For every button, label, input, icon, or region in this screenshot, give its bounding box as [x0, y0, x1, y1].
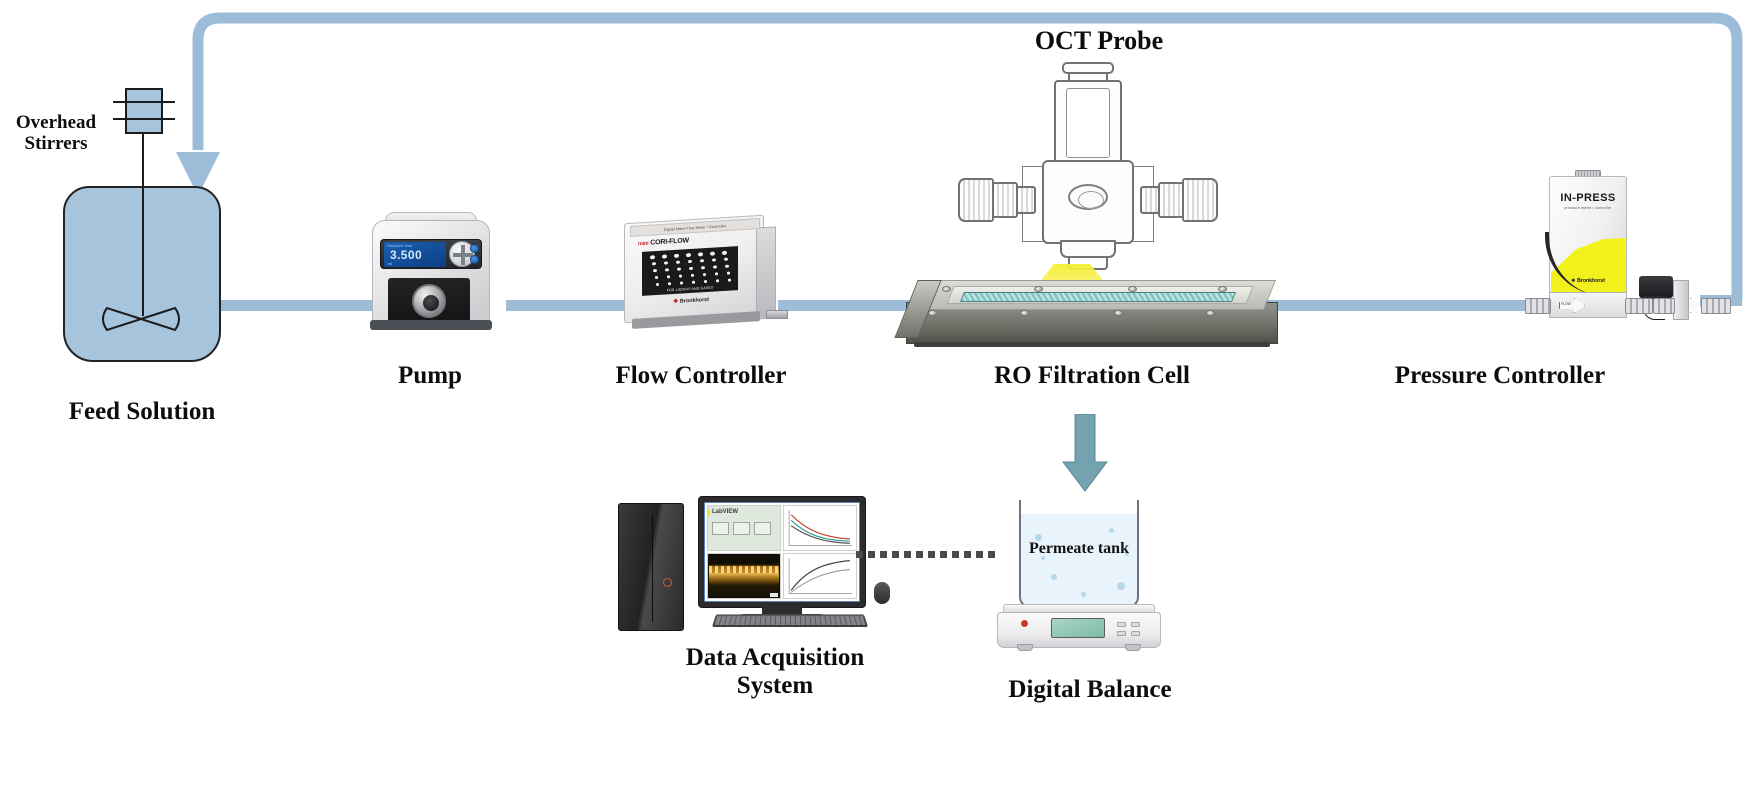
- flow-controller-graphic-dot: [656, 283, 659, 286]
- pressure-controller-manufacturer-name: Bronkhorst: [1577, 278, 1605, 284]
- bubble: [1109, 528, 1114, 533]
- labview-panel[interactable]: LabVIEW: [707, 505, 781, 551]
- flow-controller-graphic-dot: [676, 261, 681, 265]
- pressure-controller-model-label: IN-PRESS: [1553, 192, 1623, 204]
- flow-controller-graphic-dot: [710, 251, 715, 255]
- flow-controller-graphic-dot: [712, 258, 717, 262]
- bronkhorst-diamond-icon: ❖: [673, 299, 678, 305]
- flow-controller-graphic-dot: [703, 273, 707, 276]
- pump-button-bottom[interactable]: [470, 255, 479, 264]
- ro-bolt: [1206, 310, 1215, 316]
- label-oct-probe: OCT Probe: [965, 26, 1233, 55]
- flow-controller-graphic-dot: [692, 281, 695, 284]
- balance-foot: [1017, 644, 1033, 651]
- flow-controller-graphic-dot: [677, 268, 681, 271]
- pump-display-unit: ml: [388, 261, 392, 266]
- labview-tile[interactable]: [754, 522, 771, 535]
- flow-controller-graphic: FOR LIQUIDS AND GASES: [642, 246, 738, 296]
- flow-controller-graphic-dot: [700, 259, 705, 263]
- data-acquisition-system: LabVIEW: [612, 496, 912, 640]
- flow-controller-graphic-dot: [680, 281, 683, 284]
- pump-display: Setpoint flow 3.500 ml: [384, 242, 446, 267]
- oct-knob-right-outer[interactable]: [1182, 178, 1218, 222]
- flow-controller-graphic-dot: [653, 269, 657, 272]
- oct-probe-device: [950, 62, 1226, 292]
- flow-controller-graphic-dot: [704, 280, 707, 283]
- oct-knob-right-mid[interactable]: [1158, 182, 1184, 218]
- flow-arrow-icon-left: FLOW: [1559, 298, 1585, 313]
- flow-controller-graphic-dot: [674, 254, 679, 258]
- diagram-canvas: Overhead Stirrers Feed Solution Setpoint…: [0, 0, 1750, 797]
- ro-filtration-cell: [906, 272, 1278, 348]
- ro-bolt: [1218, 286, 1227, 292]
- label-digital-balance: Digital Balance: [970, 676, 1210, 704]
- peristaltic-pump: Setpoint flow 3.500 ml: [369, 206, 493, 330]
- keyboard[interactable]: [712, 614, 868, 627]
- ro-bolt: [928, 310, 937, 316]
- label-overhead-stirrers: Overhead Stirrers: [0, 112, 112, 155]
- flow-controller-graphic-dot: [679, 274, 683, 277]
- ro-bolt: [1020, 310, 1029, 316]
- pipe-pump-to-flowctl: [506, 300, 630, 311]
- label-pump: Pump: [330, 362, 530, 390]
- oct-bscan-image: [709, 555, 779, 597]
- permeate-flow-arrow: [1062, 414, 1108, 492]
- flow-controller-device: Digital Mass Flow Meter / Controller min…: [616, 205, 782, 333]
- flow-controller-graphic-dot: [691, 274, 695, 277]
- ro-membrane: [960, 292, 1236, 302]
- balance-display: [1051, 618, 1105, 638]
- flow-controller-graphic-dot: [652, 262, 657, 266]
- flow-controller-graphic-dot: [662, 254, 667, 258]
- pump-button-top[interactable]: [470, 244, 479, 253]
- flow-controller-graphic-dot: [701, 266, 705, 269]
- valve-coil: [1639, 276, 1673, 298]
- pressure-controller-subtitle: pressure meter / controller: [1553, 206, 1623, 210]
- labview-logo-icon: [707, 510, 710, 515]
- stirrer-bar-lower: [113, 118, 175, 120]
- balance-key[interactable]: [1117, 622, 1126, 627]
- pipe-feed-to-pump: [216, 300, 380, 311]
- overhead-stirrer-motor: [125, 88, 163, 134]
- computer-tower: [618, 503, 684, 631]
- permeate-tank: Permeate tank: [1019, 500, 1139, 608]
- label-pressure-controller: Pressure Controller: [1290, 362, 1710, 390]
- valve-stem: [1673, 280, 1689, 320]
- flow-controller-brand-mini: mini: [638, 241, 649, 248]
- tube-fitting: [1701, 298, 1731, 314]
- bubble: [1081, 592, 1086, 597]
- flow-controller-graphic-dot: [686, 253, 691, 257]
- oct-lens-icon: [1068, 184, 1108, 210]
- oct-knob-left-inner[interactable]: [1016, 186, 1036, 214]
- balance-key[interactable]: [1117, 631, 1126, 636]
- stirrer-shaft: [142, 108, 144, 316]
- oct-knob-left-outer[interactable]: [958, 178, 994, 222]
- labview-title: LabVIEW: [712, 509, 738, 515]
- bronkhorst-diamond-icon: ❖: [1571, 278, 1576, 284]
- flow-controller-graphic-dot: [715, 272, 719, 275]
- label-feed-solution: Feed Solution: [36, 398, 248, 426]
- flux-chart-panel[interactable]: [783, 505, 857, 551]
- permeate-tank-label: Permeate tank: [1021, 540, 1137, 558]
- balance-key[interactable]: [1131, 622, 1140, 627]
- flow-controller-graphic-dot: [713, 265, 717, 268]
- labview-tile[interactable]: [712, 522, 729, 535]
- impeller-blade: [101, 304, 181, 334]
- tube-fitting: [1525, 298, 1551, 314]
- pressure-controller-device: IN-PRESS pressure meter / controller ❖ B…: [1525, 170, 1740, 330]
- pump-control-panel[interactable]: Setpoint flow 3.500 ml: [380, 239, 482, 269]
- pump-display-value: 3.500: [390, 248, 422, 262]
- labview-tile[interactable]: [733, 522, 750, 535]
- pipe-flowctl-to-rocell: [778, 300, 918, 311]
- flow-controller-graphic-dot: [665, 268, 669, 271]
- pressure-controller-manufacturer: ❖ Bronkhorst: [1555, 278, 1621, 284]
- pump-base: [370, 320, 492, 330]
- flow-controller-graphic-dot: [668, 282, 671, 285]
- flow-arrow-label: FLOW: [1561, 302, 1571, 306]
- flow-controller-graphic-dot: [698, 252, 703, 256]
- flow-controller-graphic-dot: [724, 258, 729, 262]
- monitor-screen[interactable]: LabVIEW: [704, 502, 860, 602]
- flow-controller-graphic-dot: [688, 260, 693, 264]
- oct-knob-left-mid[interactable]: [992, 182, 1018, 218]
- ro-bolt: [1034, 286, 1043, 292]
- pump-head[interactable]: [412, 284, 446, 318]
- pipe-rocell-to-pressurectl: [1262, 300, 1532, 311]
- tube-fitting: [1625, 298, 1653, 314]
- tower-seam: [652, 514, 653, 622]
- oct-bscan-scalebar: [770, 593, 778, 597]
- flow-controller-graphic-dot: [664, 261, 669, 265]
- monitor: LabVIEW: [698, 496, 866, 608]
- bubble: [1117, 582, 1125, 590]
- flow-controller-graphic-dot: [722, 251, 727, 255]
- stirrer-bar-upper: [113, 101, 175, 103]
- power-button-icon[interactable]: [663, 578, 672, 587]
- flow-controller-graphic-dot: [727, 272, 731, 275]
- flow-controller-graphic-dot: [728, 278, 731, 281]
- data-link-dashed-line: [856, 551, 996, 558]
- flow-controller-side-panel: [756, 226, 776, 319]
- flow-controller-outlet: [766, 310, 788, 319]
- ro-bolt: [1128, 286, 1137, 292]
- performance-chart-panel[interactable]: [783, 553, 857, 599]
- flow-controller-graphic-dot: [650, 255, 655, 259]
- flow-controller-graphic-dot: [725, 265, 729, 268]
- mouse[interactable]: [874, 582, 890, 604]
- balance-foot: [1125, 644, 1141, 651]
- label-flow-controller: Flow Controller: [533, 362, 869, 390]
- oct-bscan-panel[interactable]: [707, 553, 781, 599]
- flow-controller-graphic-dot: [655, 276, 659, 279]
- oct-barrel-inner: [1066, 88, 1110, 158]
- ro-cell-shadow: [914, 342, 1270, 347]
- ro-bolt: [1114, 310, 1123, 316]
- oct-knob-right-inner[interactable]: [1140, 186, 1160, 214]
- balance-indicator-icon: [1021, 620, 1028, 627]
- labview-title-text: LabVIEW: [712, 509, 738, 515]
- digital-balance-assembly: Permeate tank: [995, 500, 1185, 650]
- flow-controller-graphic-dot: [689, 267, 693, 270]
- tube-fitting: [1653, 298, 1675, 314]
- flow-controller-graphic-dot: [667, 275, 671, 278]
- label-ro-filtration-cell: RO Filtration Cell: [930, 362, 1254, 390]
- bubble: [1051, 574, 1057, 580]
- balance-key[interactable]: [1131, 631, 1140, 636]
- label-data-acquisition-system: Data Acquisition System: [630, 644, 920, 700]
- ro-bolt: [942, 286, 951, 292]
- flow-controller-graphic-dot: [716, 279, 719, 282]
